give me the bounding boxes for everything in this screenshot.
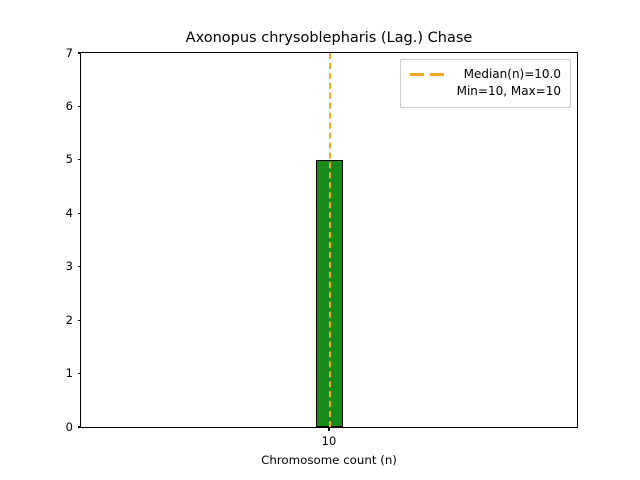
y-tick-label: 1	[66, 365, 73, 382]
chart-title: Axonopus chrysoblepharis (Lag.) Chase	[80, 30, 578, 46]
y-tick-label: 6	[66, 98, 73, 115]
y-tick-mark	[78, 373, 82, 374]
y-tick-mark	[78, 426, 82, 427]
legend-label-line1: Median(n)=10.0	[457, 66, 561, 83]
y-tick-label: 4	[66, 205, 73, 222]
x-axis-label: Chromosome count (n)	[80, 453, 578, 467]
x-tick-label: 10	[299, 434, 359, 448]
legend-label-line2: Min=10, Max=10	[457, 83, 561, 100]
plot-area: 7 6 5 4 3 2 1 0	[80, 52, 578, 428]
y-tick-label: 7	[66, 45, 73, 62]
y-tick-mark	[78, 159, 82, 160]
dashed-line-icon	[410, 66, 448, 82]
legend: Median(n)=10.0 Min=10, Max=10	[400, 59, 571, 108]
y-tick-mark	[78, 52, 82, 53]
median-line	[329, 53, 331, 427]
chart-figure: Axonopus chrysoblepharis (Lag.) Chase 7 …	[0, 0, 640, 480]
y-tick-mark	[78, 320, 82, 321]
legend-label: Median(n)=10.0 Min=10, Max=10	[457, 66, 561, 100]
y-tick-label: 2	[66, 312, 73, 329]
x-tick-mark	[328, 427, 329, 431]
y-tick-label: 3	[66, 258, 73, 275]
y-tick-label: 5	[66, 151, 73, 168]
y-tick-label: 0	[66, 419, 73, 436]
y-tick-mark	[78, 106, 82, 107]
y-tick-mark	[78, 213, 82, 214]
y-tick-mark	[78, 266, 82, 267]
legend-entry: Median(n)=10.0 Min=10, Max=10	[410, 66, 561, 100]
